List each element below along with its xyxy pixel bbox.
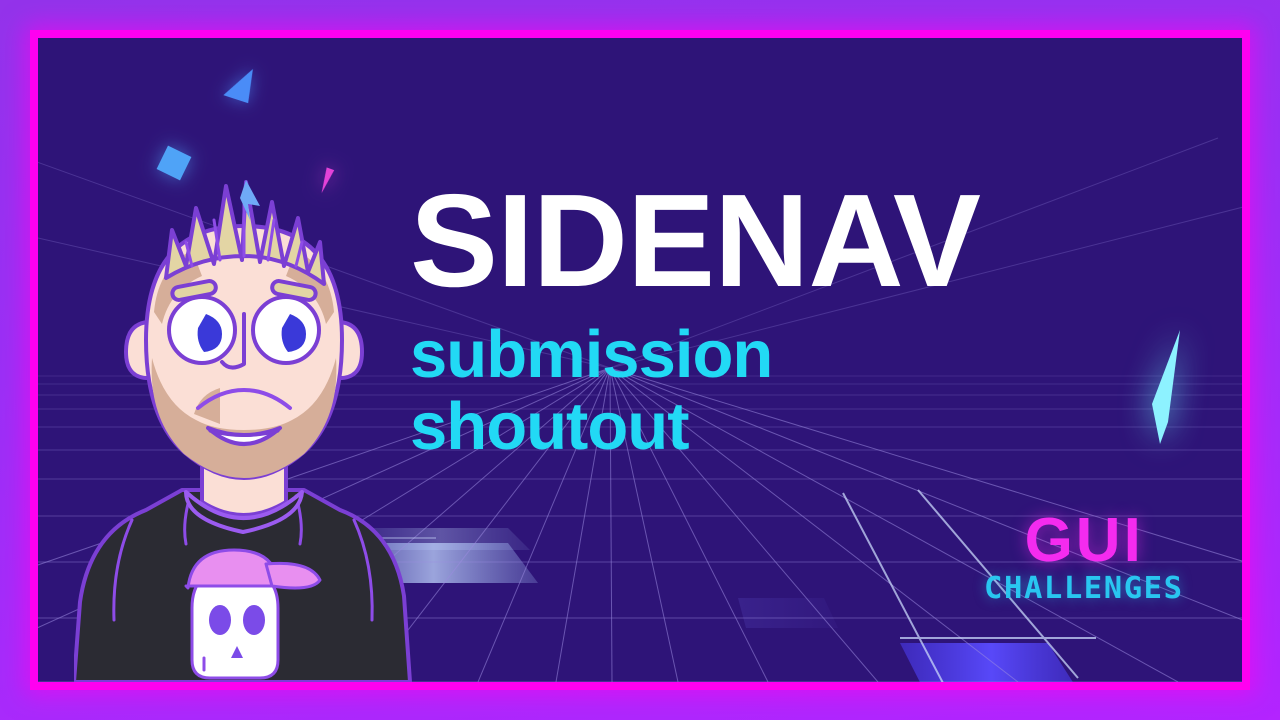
page-title: SIDENAV [410,178,980,305]
neon-frame-border: SIDENAV submission shoutout GUI CHALLENG… [30,30,1250,690]
brand-lockup: GUI CHALLENGES [986,513,1182,604]
triangle-confetti-icon [223,63,258,103]
brand-secondary-text: CHALLENGES [984,574,1184,604]
video-thumbnail-stage: SIDENAV submission shoutout GUI CHALLENG… [0,0,1280,720]
headline-block: SIDENAV submission shoutout [410,178,980,463]
content-screen: SIDENAV submission shoutout GUI CHALLENG… [38,38,1242,682]
brand-primary-text: GUI [986,513,1182,569]
light-shard-icon [1146,326,1186,446]
character-avatar-illustration [74,172,414,682]
subtitle-line-2: shoutout [410,391,980,463]
page-subtitle: submission shoutout [410,319,980,464]
subtitle-line-1: submission [410,319,980,391]
